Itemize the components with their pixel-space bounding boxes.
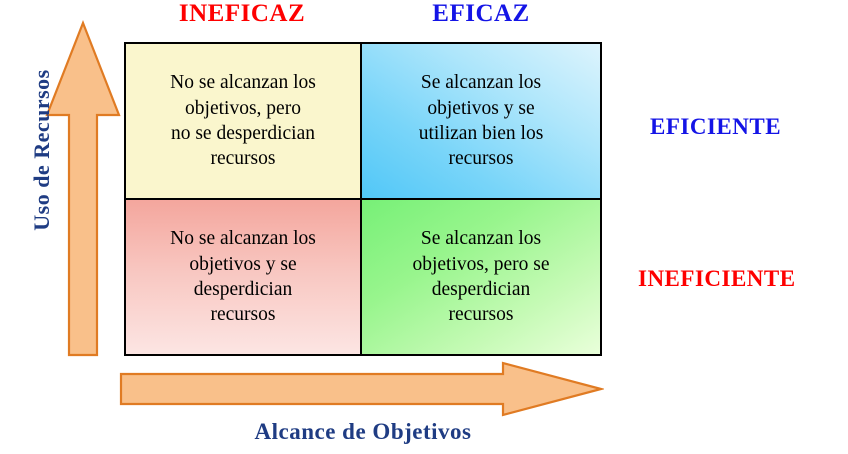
quadrant-text-line: no se desperdician bbox=[171, 121, 315, 146]
quadrant-cell-bottom-left: No se alcanzan los objetivos y se desper… bbox=[126, 200, 362, 354]
right-arrow-icon bbox=[118, 360, 604, 418]
quadrant-text-line: recursos bbox=[211, 146, 276, 171]
quadrant-text-line: objetivos y se bbox=[189, 252, 296, 277]
axis-x-title: Alcance de Objetivos bbox=[124, 419, 602, 445]
quadrant-cell-top-right: Se alcanzan los objetivos y se utilizan … bbox=[362, 44, 600, 200]
quadrant-matrix: No se alcanzan los objetivos, pero no se… bbox=[124, 42, 602, 356]
quadrant-text-line: objetivos, pero se bbox=[412, 252, 549, 277]
quadrant-cell-bottom-right: Se alcanzan los objetivos, pero se despe… bbox=[362, 200, 600, 354]
row-label-eficiente: EFICIENTE bbox=[650, 114, 781, 140]
quadrant-text-line: Se alcanzan los bbox=[421, 70, 541, 95]
up-arrow-icon bbox=[44, 20, 122, 358]
quadrant-text-line: desperdician bbox=[194, 277, 293, 302]
column-header-eficaz: EFICAZ bbox=[360, 0, 602, 28]
quadrant-text-line: recursos bbox=[449, 146, 514, 171]
quadrant-text-line: No se alcanzan los bbox=[170, 226, 316, 251]
quadrant-text-line: Se alcanzan los bbox=[421, 226, 541, 251]
quadrant-text-line: objetivos y se bbox=[427, 96, 534, 121]
quadrant-cell-top-left: No se alcanzan los objetivos, pero no se… bbox=[126, 44, 362, 200]
quadrant-text-line: recursos bbox=[211, 302, 276, 327]
quadrant-text-line: utilizan bien los bbox=[419, 121, 544, 146]
row-label-ineficiente: INEFICIENTE bbox=[638, 266, 796, 292]
quadrant-text-line: desperdician bbox=[432, 277, 531, 302]
axis-y-title: Uso de Recursos bbox=[29, 30, 55, 270]
column-header-ineficaz: INEFICAZ bbox=[124, 0, 360, 28]
quadrant-text-line: No se alcanzan los bbox=[170, 70, 316, 95]
quadrant-text-line: objetivos, pero bbox=[185, 96, 301, 121]
quadrant-text-line: recursos bbox=[449, 302, 514, 327]
